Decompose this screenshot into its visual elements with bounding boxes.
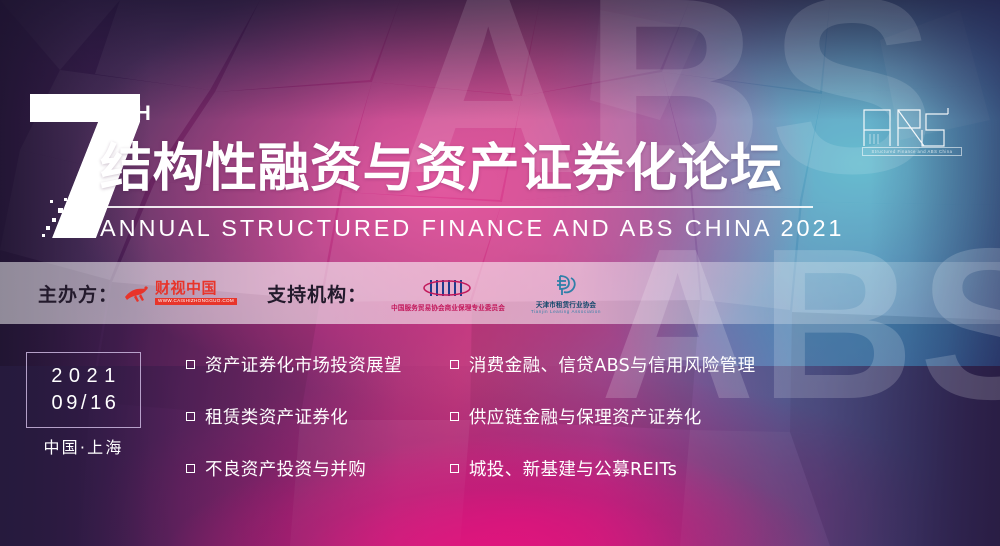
topic-label: 资产证券化市场投资展望	[205, 352, 402, 377]
tla-icon	[549, 272, 583, 298]
cfeec-icon	[417, 275, 479, 301]
title-block: 结构性融资与资产证券化论坛 ANNUAL STRUCTURED FINANCE …	[100, 142, 816, 242]
organizer-logo: 财视中国 WWW.CAISHIZHONGGUO.COM	[122, 281, 237, 306]
event-date-box: 2021 09/16	[26, 352, 141, 428]
abs-mark-caption: Structured Finance and ABS China	[862, 147, 962, 156]
supporter-logo-tla: 天津市租赁行业协会 Tianjin Leasing Association	[531, 272, 601, 314]
tla-name-cn: 天津市租赁行业协会	[536, 299, 596, 309]
list-item: 消费金融、信贷ABS与信用风险管理	[450, 352, 756, 377]
list-item: 资产证券化市场投资展望	[186, 352, 402, 377]
topic-label: 租赁类资产证券化	[205, 404, 348, 429]
edition-suffix: TH	[122, 102, 152, 126]
topics-column-left: 资产证券化市场投资展望 租赁类资产证券化 不良资产投资与并购	[186, 352, 402, 481]
sponsor-bar: 主办方： 财视中国 WWW.CAISHIZHONGGUO.COM 支持机构：	[0, 262, 1000, 324]
topic-label: 供应链金融与保理资产证券化	[469, 404, 702, 429]
abs-brand-mark: Structured Finance and ABS China	[856, 100, 968, 166]
event-location: 中国·上海	[26, 434, 141, 458]
title-divider	[100, 206, 813, 208]
topics-column-right: 消费金融、信贷ABS与信用风险管理 供应链金融与保理资产证券化 城投、新基建与公…	[450, 352, 756, 481]
list-item: 供应链金融与保理资产证券化	[450, 404, 756, 429]
topics-list: 资产证券化市场投资展望 租赁类资产证券化 不良资产投资与并购 消费金融、信贷AB…	[186, 352, 786, 481]
bullet-square-icon	[186, 464, 195, 473]
list-item: 不良资产投资与并购	[186, 456, 402, 481]
organizer-label: 主办方：	[38, 280, 118, 307]
bullet-square-icon	[186, 360, 195, 369]
bullet-square-icon	[450, 412, 459, 421]
tla-name-en: Tianjin Leasing Association	[531, 309, 601, 314]
caishi-horse-icon	[122, 281, 152, 305]
page-title-en: ANNUAL STRUCTURED FINANCE AND ABS CHINA …	[100, 215, 816, 242]
list-item: 租赁类资产证券化	[186, 404, 402, 429]
supporter-label: 支持机构：	[267, 280, 367, 307]
supporter-logo-cfeec: 中国服务贸易协会商业保理专业委员会	[391, 275, 505, 312]
list-item: 城投、新基建与公募REITs	[450, 456, 756, 481]
event-date: 09/16	[47, 392, 119, 415]
cfeec-name-cn: 中国服务贸易协会商业保理专业委员会	[391, 302, 505, 312]
event-year: 2021	[45, 365, 122, 388]
bullet-square-icon	[450, 360, 459, 369]
bullet-square-icon	[450, 464, 459, 473]
page-title-cn: 结构性融资与资产证券化论坛	[100, 142, 816, 197]
topic-label: 消费金融、信贷ABS与信用风险管理	[469, 352, 756, 377]
topic-label: 城投、新基建与公募REITs	[469, 456, 677, 481]
organizer-name: 财视中国	[155, 281, 217, 296]
organizer-url: WWW.CAISHIZHONGGUO.COM	[155, 298, 237, 306]
conference-poster: ABS ABS	[0, 0, 1000, 546]
topic-label: 不良资产投资与并购	[205, 456, 366, 481]
bullet-square-icon	[186, 412, 195, 421]
